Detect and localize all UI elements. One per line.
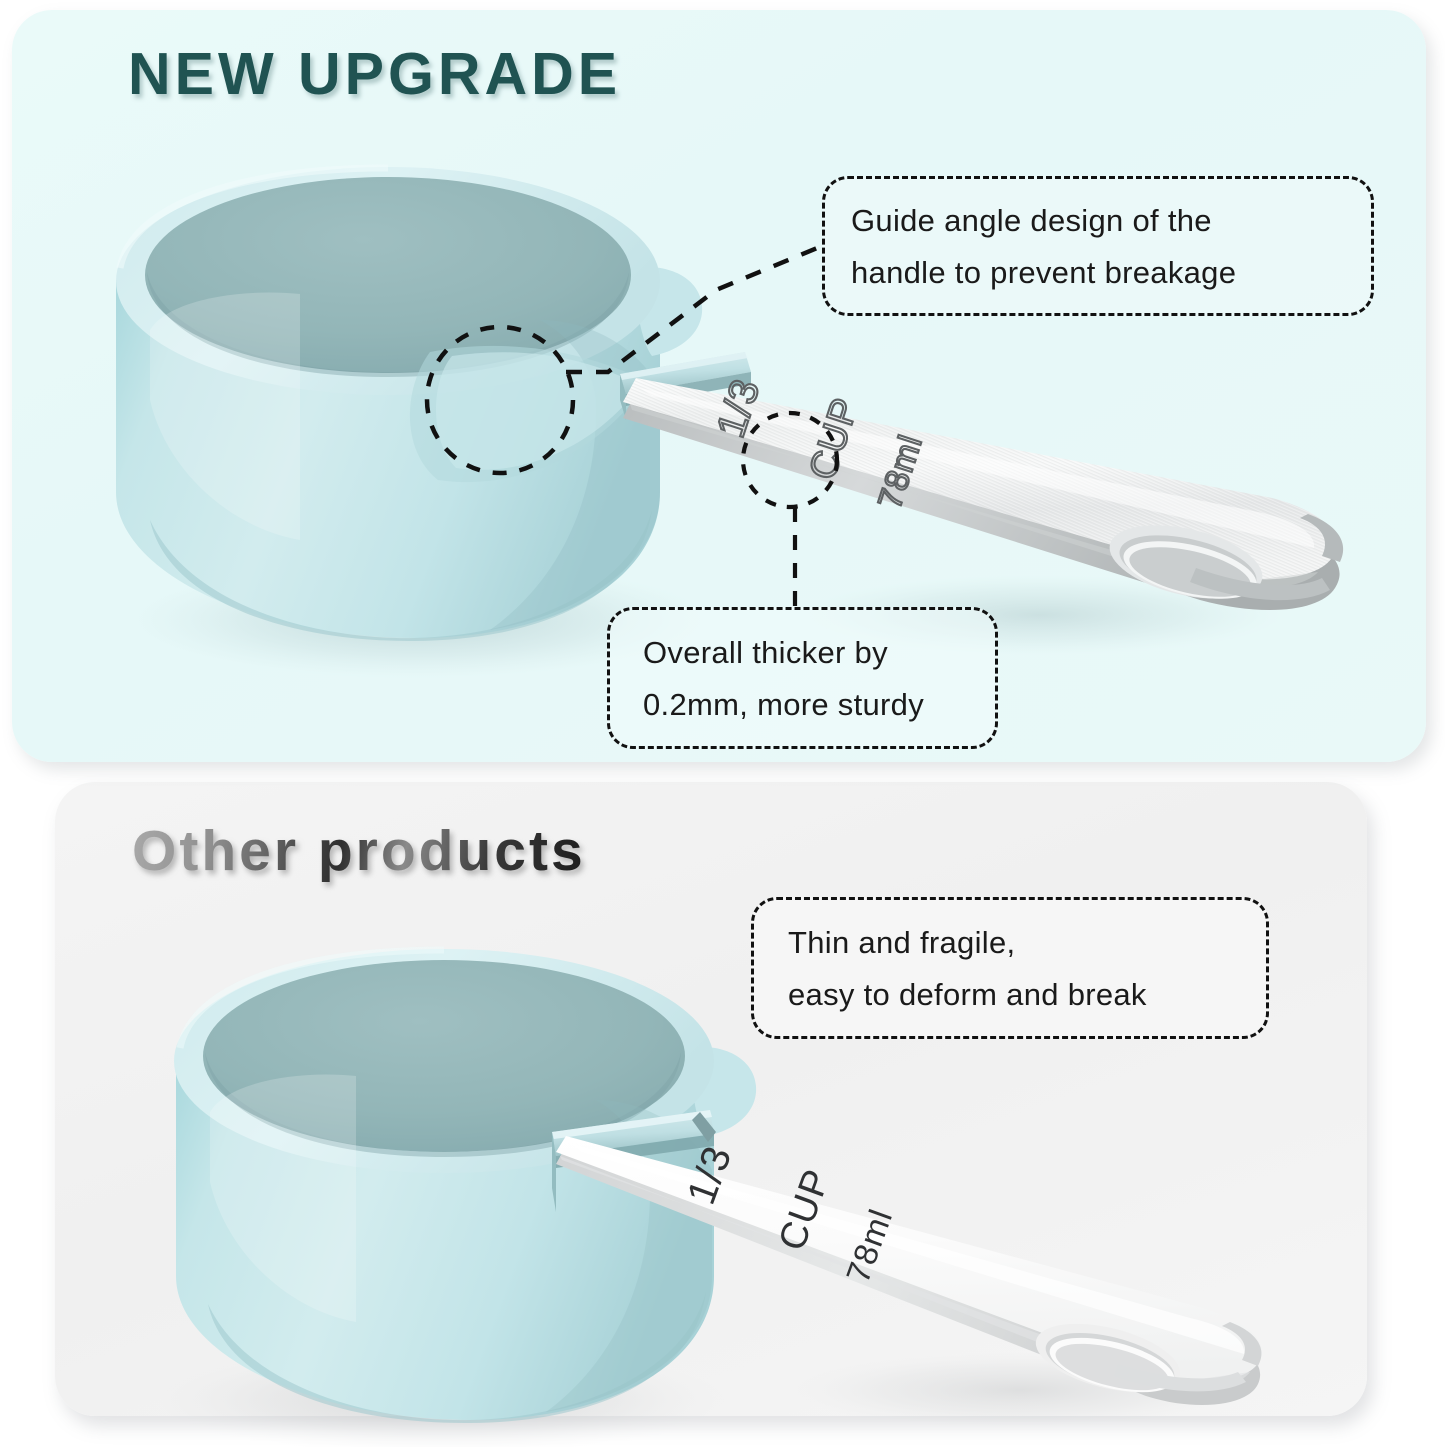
leader-line-guide-angle xyxy=(566,246,822,372)
highlight-circle-guide-angle xyxy=(427,327,573,473)
callout-fragile-line-1: Thin and fragile, xyxy=(788,925,1232,960)
callout-overall-thicker: Overall thicker by 0.2mm, more sturdy xyxy=(607,607,998,749)
callout-thin-and-fragile: Thin and fragile, easy to deform and bre… xyxy=(751,897,1269,1039)
callout-guide-angle-design: Guide angle design of the handle to prev… xyxy=(822,176,1374,316)
callout-thicker-line-1: Overall thicker by xyxy=(643,635,962,670)
callout-guide-line-1: Guide angle design of the xyxy=(851,203,1345,238)
callout-guide-line-2: handle to prevent breakage xyxy=(851,255,1345,290)
page-title-other-products: Other products xyxy=(132,818,586,884)
callout-fragile-line-2: easy to deform and break xyxy=(788,977,1232,1012)
highlight-circle-thickness xyxy=(743,413,837,507)
callout-thicker-line-2: 0.2mm, more sturdy xyxy=(643,687,962,722)
